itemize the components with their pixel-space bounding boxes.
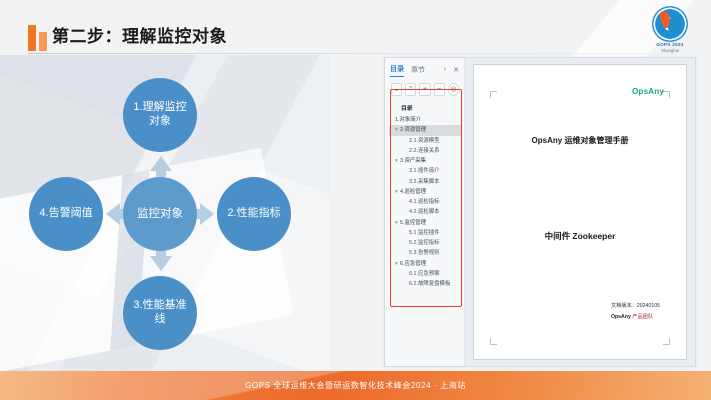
page-title: 第二步：理解监控对象 xyxy=(52,22,227,47)
gops-logo: GOPS 2024 Shanghai xyxy=(643,6,697,54)
toc-item-label: 6.1.应急预案 xyxy=(409,271,440,277)
document-team-line: OpsAny 产品团队 xyxy=(611,312,660,323)
toc-item-label: 2.1.资源模型 xyxy=(409,138,440,144)
plus-icon[interactable]: + xyxy=(419,83,430,96)
toc-item[interactable]: 6.1.应急预案 xyxy=(389,269,461,279)
toc-item[interactable]: ▾6.应急管理 xyxy=(389,259,461,269)
toc-item-label: 5.3.告警规则 xyxy=(409,250,440,256)
toc-item-label: 6.应急管理 xyxy=(400,261,426,267)
diagram-node-performance-baseline: 3.性能基准线 xyxy=(123,276,197,350)
crop-mark-top-left-icon xyxy=(490,91,497,98)
toc-item-label: 2.资源管理 xyxy=(400,127,426,133)
toc-item[interactable]: 5.2.监控指标 xyxy=(389,238,461,248)
toc-item[interactable]: ▾3.资产采集 xyxy=(389,156,461,166)
toc-item[interactable]: 4.2.巡检脚本 xyxy=(389,207,461,217)
close-icon[interactable]: ✕ xyxy=(453,65,459,76)
tab-contents[interactable]: 目录 xyxy=(390,63,404,77)
document-version-value: 20240105 xyxy=(637,303,660,309)
toc-item-label: 4.2.巡检脚本 xyxy=(409,209,440,215)
toc-item[interactable]: ▾5.监控管理 xyxy=(389,218,461,228)
toc-item-label: 5.1.监控插件 xyxy=(409,230,440,236)
slide-header: 第二步：理解监控对象 xyxy=(0,22,711,56)
diagram-node-alarm-threshold: 4.告警阈值 xyxy=(29,177,103,251)
monitoring-object-diagram: 1.理解监控对象 4.告警阈值 监控对象 2.性能指标 3.性能基准线 xyxy=(10,78,330,348)
toc-item[interactable]: ▾2.资源管理 xyxy=(389,125,461,135)
toc-item-label: 2.2.连接关系 xyxy=(409,148,440,154)
document-version-label: 文档版本： xyxy=(611,303,637,309)
title-divider xyxy=(28,53,683,54)
diagram-node-understand-object: 1.理解监控对象 xyxy=(123,78,197,152)
logo-line-2: Shanghai xyxy=(643,48,697,54)
toc-item-label: 1.对象简介 xyxy=(395,117,421,123)
minus-icon[interactable]: − xyxy=(434,83,445,96)
document-version-line: 文档版本：20240105 xyxy=(611,301,660,312)
toc-item[interactable]: 2.1.资源模型 xyxy=(389,136,461,146)
arrow-right-icon xyxy=(200,203,214,225)
reset-circle-icon[interactable]: ◎ xyxy=(448,83,459,96)
toc-item-label: 6.2.故障复盘模板 xyxy=(409,281,450,287)
toc-item[interactable]: 3.1.插件简介 xyxy=(389,166,461,176)
sidebar-tabs: 目录 章节 › ✕ xyxy=(385,58,464,79)
diagram-node-performance-metrics: 2.性能指标 xyxy=(217,177,291,251)
toc-item[interactable]: 4.1.巡检指标 xyxy=(389,197,461,207)
arrow-left-icon xyxy=(106,203,120,225)
document-viewer-screenshot: 目录 章节 › ✕ ⌄ ⌃ + − ◎ 目录1.对象简介▾2.资源管理2.1.资… xyxy=(384,57,696,367)
arrow-up-icon xyxy=(150,156,172,171)
toc-item-label: 5.2.监控指标 xyxy=(409,240,440,246)
footer-text: GOPS 全球运维大会暨研运数智化技术峰会2024 · 上海站 xyxy=(0,380,711,391)
arrow-down-icon xyxy=(150,256,172,271)
title-accent-bars-icon xyxy=(28,25,47,51)
toc-item-label: 目录 xyxy=(401,106,413,112)
toc-item[interactable]: 5.3.告警规则 xyxy=(389,248,461,258)
toc-item[interactable]: 5.1.监控插件 xyxy=(389,228,461,238)
toc-list: 目录1.对象简介▾2.资源管理2.1.资源模型2.2.连接关系▾3.资产采集3.… xyxy=(385,101,464,290)
toc-sidebar: 目录 章节 › ✕ ⌄ ⌃ + − ◎ 目录1.对象简介▾2.资源管理2.1.资… xyxy=(385,58,465,366)
toc-item[interactable]: 3.2.采集脚本 xyxy=(389,177,461,187)
toc-item[interactable]: 1.对象简介 xyxy=(389,115,461,125)
toc-item[interactable]: 2.2.连接关系 xyxy=(389,146,461,156)
document-team-label: 产品团队 xyxy=(631,314,653,320)
document-page: OpsAny OpsAny 运维对象管理手册 中间件 Zookeeper 文档版… xyxy=(473,64,687,360)
chevron-down-icon[interactable]: ⌄ xyxy=(391,83,402,96)
toc-item-label: 4.1.巡检指标 xyxy=(409,199,440,205)
chevron-right-icon[interactable]: › xyxy=(444,65,446,75)
toc-item-label: 3.资产采集 xyxy=(400,158,426,164)
document-subtitle: 中间件 Zookeeper xyxy=(474,230,686,242)
crop-mark-bottom-right-icon xyxy=(663,338,670,345)
tab-chapters[interactable]: 章节 xyxy=(411,64,425,77)
toc-heading: 目录 xyxy=(389,104,461,115)
crop-mark-bottom-left-icon xyxy=(490,338,497,345)
slide-footer: GOPS 全球运维大会暨研运数智化技术峰会2024 · 上海站 xyxy=(0,371,711,400)
crop-mark-top-right-icon xyxy=(663,91,670,98)
document-meta: 文档版本：20240105 OpsAny 产品团队 xyxy=(611,301,660,323)
toc-item-label: 4.巡检管理 xyxy=(400,189,426,195)
toc-toolbar: ⌄ ⌃ + − ◎ xyxy=(385,79,464,101)
toc-item[interactable]: 6.2.故障复盘模板 xyxy=(389,279,461,289)
slide-root: 第二步：理解监控对象 GOPS 2024 Shanghai 1.理解监控对象 4… xyxy=(0,0,711,400)
chevron-up-icon[interactable]: ⌃ xyxy=(405,83,416,96)
document-team-brand: OpsAny xyxy=(611,314,631,320)
document-title: OpsAny 运维对象管理手册 xyxy=(474,135,686,146)
gops-logo-icon xyxy=(652,6,688,42)
diagram-node-center: 监控对象 xyxy=(123,177,197,251)
toc-item[interactable]: ▾4.巡检管理 xyxy=(389,187,461,197)
opsany-brand-logo: OpsAny xyxy=(632,87,664,96)
toc-item-label: 3.1.插件简介 xyxy=(409,168,440,174)
toc-item-label: 5.监控管理 xyxy=(400,220,426,226)
document-pane[interactable]: OpsAny OpsAny 运维对象管理手册 中间件 Zookeeper 文档版… xyxy=(465,58,695,366)
toc-item-label: 3.2.采集脚本 xyxy=(409,179,440,185)
